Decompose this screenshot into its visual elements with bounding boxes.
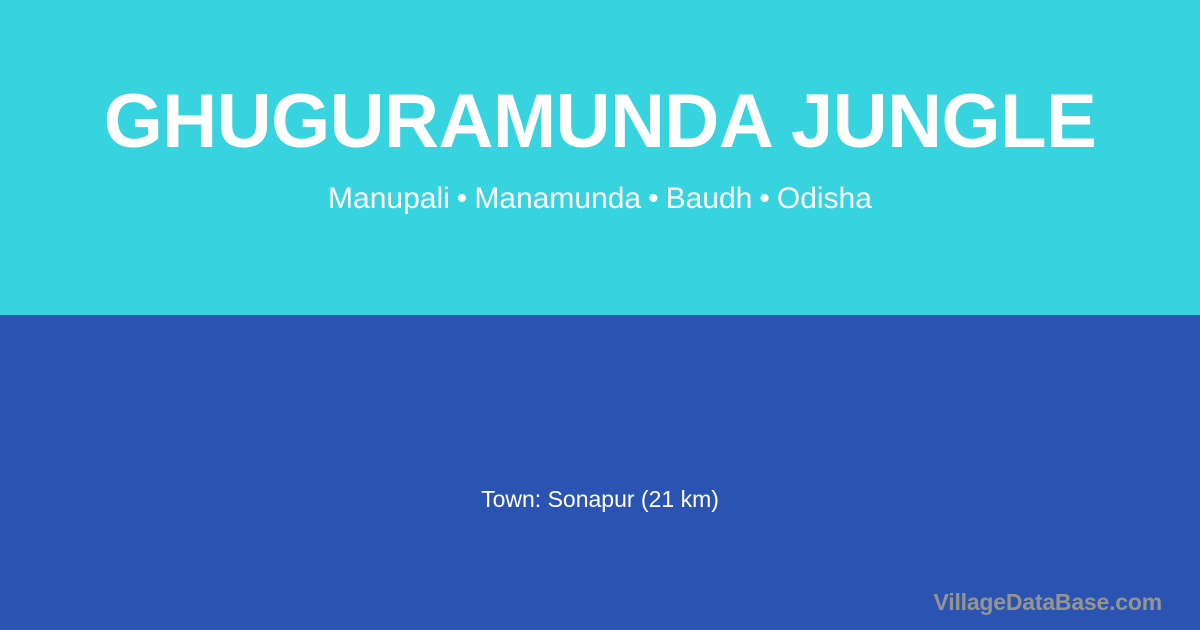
breadcrumb-item-village: Manupali [328, 182, 450, 215]
site-watermark: VillageDataBase.com [934, 588, 1162, 616]
breadcrumb-separator: • [641, 182, 666, 215]
body-band [0, 315, 1200, 630]
nearest-town-detail: Town: Sonapur (21 km) [0, 484, 1200, 514]
breadcrumb-separator: • [752, 182, 777, 215]
breadcrumb-item-district: Baudh [666, 182, 753, 215]
page-title: GHUGURAMUNDA JUNGLE [0, 82, 1200, 162]
breadcrumb-separator: • [450, 182, 475, 215]
breadcrumb: Manupali•Manamunda•Baudh•Odisha [0, 181, 1200, 217]
village-info-card: GHUGURAMUNDA JUNGLE Manupali•Manamunda•B… [0, 0, 1200, 630]
breadcrumb-item-state: Odisha [777, 182, 872, 215]
breadcrumb-item-block: Manamunda [474, 182, 641, 215]
